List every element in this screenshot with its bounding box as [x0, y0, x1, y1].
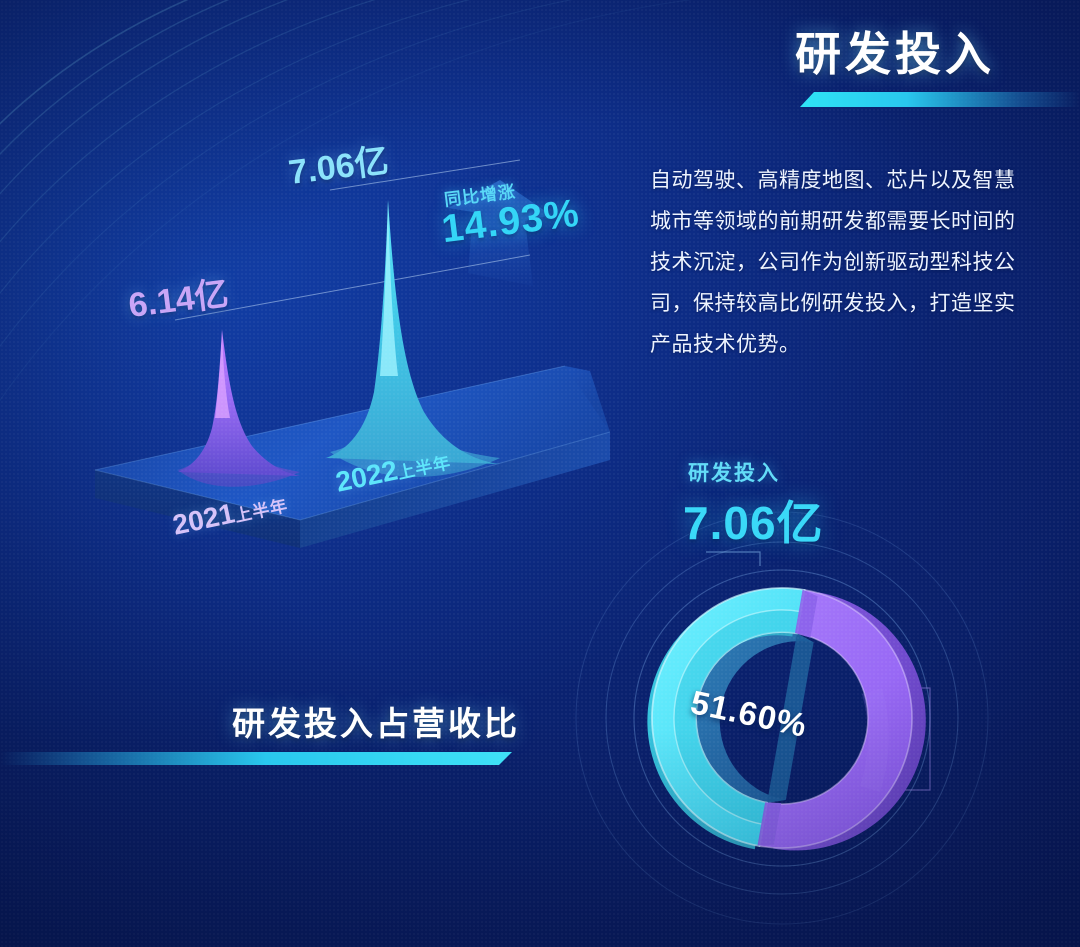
donut-value: 7.06亿 [683, 487, 824, 553]
infographic-canvas: 研发投入 自动驾驶、高精度地图、芯片以及智慧城市等领域的前期研发都需要长时间的技… [0, 0, 1080, 947]
background-decoration [0, 0, 1080, 947]
page-title: 研发投入 [795, 18, 995, 84]
section-title: 研发投入占营收比 [232, 697, 520, 745]
donut-caption: 研发投入 [688, 457, 780, 487]
title-underline-bar [800, 92, 1080, 107]
section-underline-bar [0, 752, 512, 765]
header-description: 自动驾驶、高精度地图、芯片以及智慧城市等领域的前期研发都需要长时间的技术沉淀，公… [650, 160, 1020, 365]
